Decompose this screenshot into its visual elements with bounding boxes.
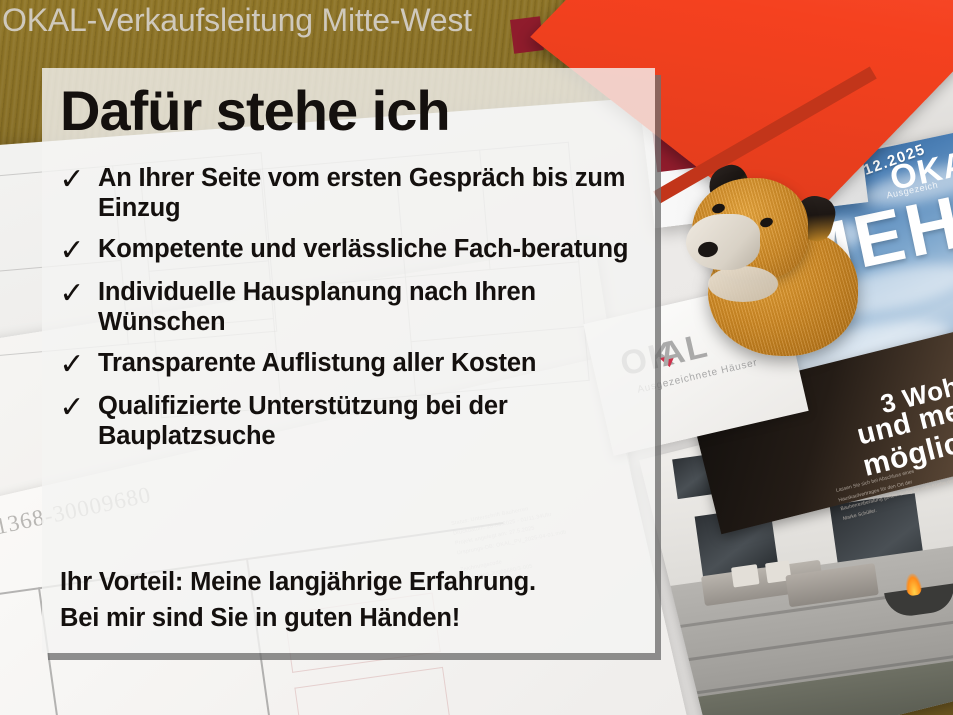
checkmark-icon: ✓: [58, 164, 86, 195]
list-item: ✓ An Ihrer Seite vom ersten Gespräch bis…: [58, 164, 648, 223]
photo-cushion-1: [731, 564, 760, 587]
list-item: ✓ Transparente Auflistung aller Kosten: [58, 349, 648, 380]
okal-logo-triangle-icon: [659, 355, 677, 369]
checkmark-icon: ✓: [58, 235, 86, 266]
fox-muzzle: [686, 214, 760, 270]
list-item-label: Kompetente und verlässliche Fach-beratun…: [98, 235, 628, 265]
checkmark-icon: ✓: [58, 392, 86, 423]
fox-plush-figurine: [690, 170, 870, 370]
checkmark-icon: ✓: [58, 278, 86, 309]
benefits-list: ✓ An Ihrer Seite vom ersten Gespräch bis…: [58, 164, 648, 463]
checkmark-icon: ✓: [58, 349, 86, 380]
screenshot-canvas: 1368-30009680 Status: Unterschrift Bauhe…: [0, 0, 953, 715]
list-item: ✓ Qualifizierte Unterstützung bei der Ba…: [58, 392, 648, 451]
closing-line-1: Ihr Vorteil: Meine langjährige Erfahrung…: [60, 565, 640, 601]
list-item-label: Individuelle Hausplanung nach Ihren Wüns…: [98, 278, 638, 337]
list-item: ✓ Individuelle Hausplanung nach Ihren Wü…: [58, 278, 648, 337]
list-item-label: Qualifizierte Unterstützung bei der Baup…: [98, 392, 638, 451]
list-item-label: An Ihrer Seite vom ersten Gespräch bis z…: [98, 164, 638, 223]
panel-heading: Dafür stehe ich: [60, 78, 450, 143]
fox-cheek: [708, 266, 778, 302]
page-title: OKAL-Verkaufsleitung Mitte-West: [0, 0, 700, 40]
list-item: ✓ Kompetente und verlässliche Fach-berat…: [58, 235, 648, 266]
content-panel: Dafür stehe ich ✓ An Ihrer Seite vom ers…: [42, 68, 655, 653]
closing-line-2: Bei mir sind Sie in guten Händen!: [60, 601, 640, 637]
list-item-label: Transparente Auflistung aller Kosten: [98, 349, 536, 379]
closing-statement: Ihr Vorteil: Meine langjährige Erfahrung…: [60, 565, 640, 636]
